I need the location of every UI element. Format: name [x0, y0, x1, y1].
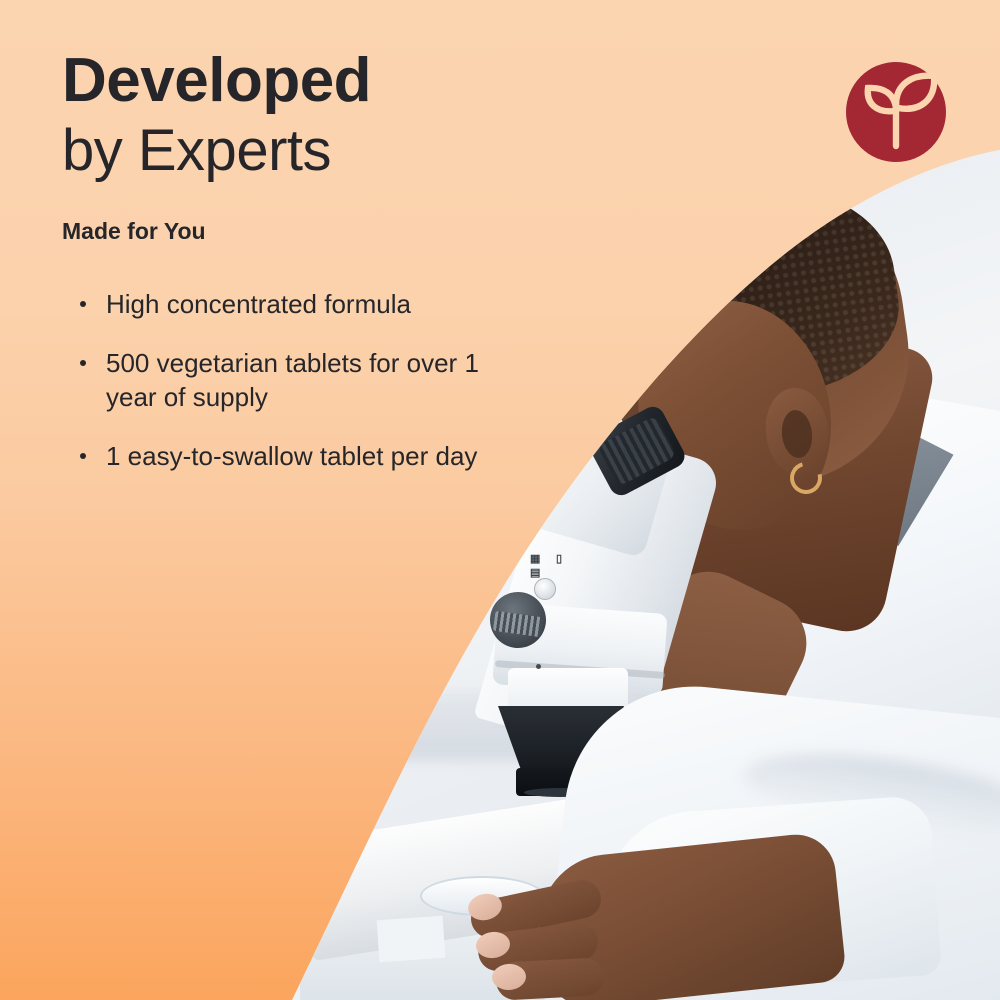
page-title-line2: by Experts: [62, 120, 331, 183]
sprout-leaf-icon: [846, 62, 946, 162]
microscope-marking-2: ▤: [530, 566, 541, 579]
microscope-marking-1: ▦: [530, 552, 541, 565]
list-item-label: 1 easy-to-swallow tablet per day: [106, 441, 477, 471]
list-item: 500 vegetarian tablets for over 1 year o…: [62, 347, 532, 414]
list-item: 1 easy-to-swallow tablet per day: [62, 440, 532, 473]
microscope-marking-3: ▯: [556, 552, 563, 565]
list-item-label: High concentrated formula: [106, 289, 411, 319]
bench-paper: [377, 916, 446, 963]
page-title-line1: Developed: [62, 48, 371, 115]
brand-logo: [846, 62, 946, 162]
promo-banner: ▦ ▤ ▯ Developed by Exp: [0, 0, 1000, 1000]
microscope-indicator-dot: [536, 664, 541, 669]
bullet-dot-icon: [80, 453, 86, 459]
bullet-dot-icon: [80, 360, 86, 366]
microscope-small-knob: [534, 578, 556, 600]
bullet-dot-icon: [80, 301, 86, 307]
feature-list: High concentrated formula 500 vegetarian…: [62, 288, 532, 473]
list-item: High concentrated formula: [62, 288, 532, 321]
list-item-label: 500 vegetarian tablets for over 1 year o…: [106, 348, 479, 411]
subheading: Made for You: [62, 218, 206, 245]
